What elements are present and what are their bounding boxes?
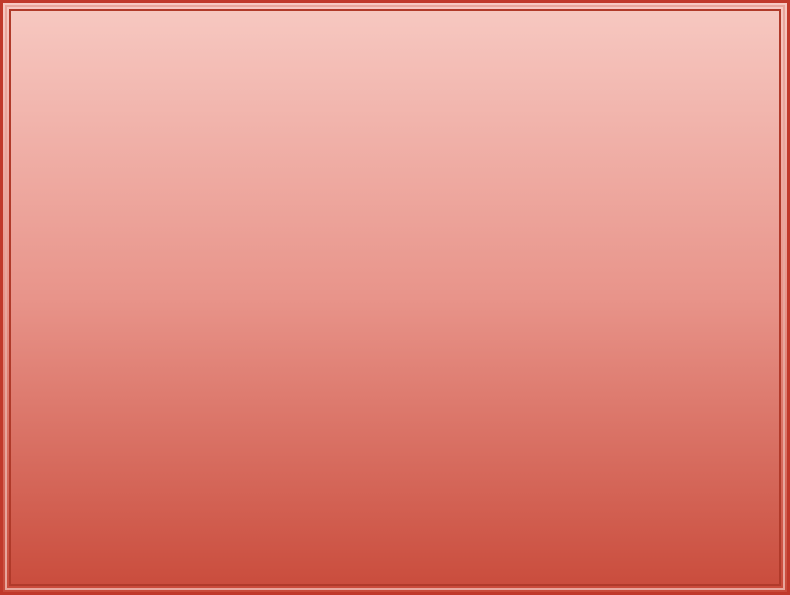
icon-inscription: СРѢТЕНIЕ ГДНЕ xyxy=(41,54,211,62)
date-line: 15 февраля xyxy=(207,35,777,75)
service-line: Утреня. Часы. Божественная литургия. xyxy=(207,115,777,146)
feast-line: равноап. Николая, архиепископа Японского xyxy=(161,513,779,540)
feast-feb-16: Попразднство Сретения Господня правв. Си… xyxy=(161,459,779,540)
time-line: 08.30 xyxy=(191,337,779,377)
icon-face xyxy=(61,149,78,168)
service-line: Молебен. xyxy=(207,146,777,177)
icon-figure-joseph xyxy=(55,155,89,245)
services-feb-15: Утреня. Часы. Божественная литургия. Мол… xyxy=(207,115,777,177)
icon-artwork: СРѢТЕНIЕ ГДНЕ xyxy=(40,50,212,260)
feast-line: Сретение Господа Бога xyxy=(207,187,777,213)
icon-face xyxy=(184,119,199,136)
feast-feb-15: Сретение Господа Бога и Спаса нашего Иис… xyxy=(207,187,777,239)
feast-line: и Спаса нашего Иисуса Христа xyxy=(207,213,777,239)
services-feb-16: Часы. Божественная литургия. Молебен. Па… xyxy=(181,383,779,447)
feast-line: правв. Симео́на Богоприимца и Анны Проро… xyxy=(161,486,779,513)
icon-face xyxy=(145,135,162,154)
icon-face xyxy=(110,146,127,165)
date-line: 16 февраля xyxy=(191,297,779,337)
time-line: 08.30 xyxy=(207,75,777,115)
feast-line: Попразднство Сретения Господня xyxy=(161,459,779,486)
poster-stage: СРѢТЕНIЕ ГДНЕ xyxy=(11,11,779,584)
service-line: Панихида xyxy=(181,415,779,447)
service-line: Часы. Божественная литургия. Молебен. xyxy=(181,383,779,415)
service-schedule-poster: СРѢТЕНIЕ ГДНЕ xyxy=(0,0,790,595)
icon-christ-child xyxy=(145,159,165,185)
icon-figure-prophetess xyxy=(173,147,207,225)
icon-sretenie-gospodne: СРѢТЕНIЕ ГДНЕ xyxy=(31,41,221,269)
date-heading-feb-15: 15 февраля 08.30 xyxy=(207,35,777,115)
date-heading-feb-16: 16 февраля 08.30 xyxy=(191,297,779,377)
